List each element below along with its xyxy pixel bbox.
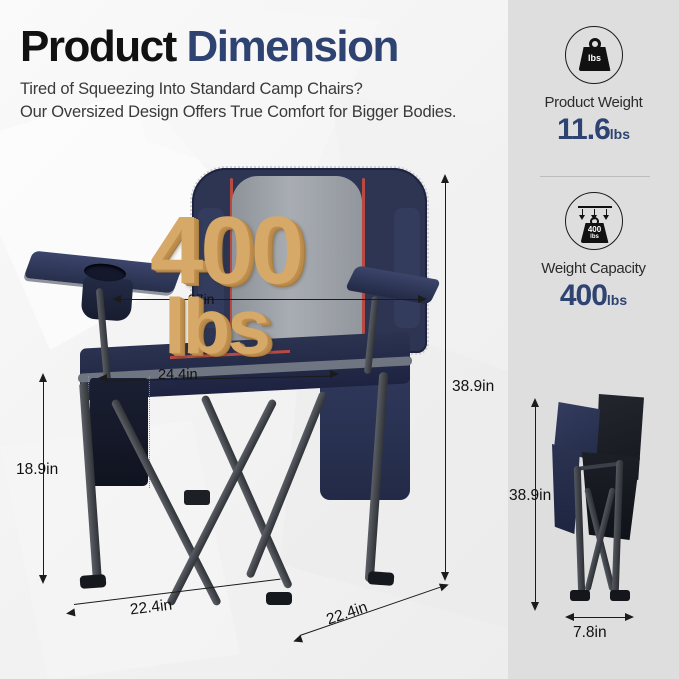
dimension-label-back-width: 37in xyxy=(188,291,214,307)
product-weight-value: 11.6 xyxy=(557,113,610,146)
weight-capacity-card: 400 lbs Weight Capacity 400lbs xyxy=(508,192,679,313)
weight-icon-label: lbs xyxy=(579,53,611,63)
title-part-one: Product xyxy=(20,22,176,71)
weight-plate-icon: lbs xyxy=(565,26,623,84)
header: Product Dimension Tired of Squeezing Int… xyxy=(20,24,500,124)
arrowhead-right xyxy=(418,295,427,303)
dimension-label-total-height: 38.9in xyxy=(452,378,494,396)
arrowhead-down xyxy=(441,572,449,581)
load-bar xyxy=(578,206,612,208)
chair-foot xyxy=(80,574,107,589)
infographic-page: Product Dimension Tired of Squeezing Int… xyxy=(0,0,679,679)
title-part-two: Dimension xyxy=(186,22,397,71)
down-arrow-icon xyxy=(582,209,584,217)
weight-capacity-value: 400 xyxy=(560,279,607,312)
subtitle-line-two: Our Oversized Design Offers True Comfort… xyxy=(20,101,500,123)
product-weight-card: lbs Product Weight 11.6lbs xyxy=(508,26,679,147)
backrest-piping xyxy=(362,178,365,350)
weight-capacity-icon: 400 lbs xyxy=(565,192,623,250)
weight-capacity-unit: lbs xyxy=(607,292,627,308)
chair-backrest xyxy=(192,168,427,353)
chair-foot xyxy=(266,592,292,605)
folded-chair-illustration xyxy=(552,392,657,607)
backrest-side-pad xyxy=(394,208,420,328)
weight-capacity-value-wrap: 400lbs xyxy=(508,279,679,313)
page-title: Product Dimension xyxy=(20,24,500,70)
dimension-label-folded-height: 38.9in xyxy=(509,487,551,505)
dimension-line xyxy=(573,617,627,618)
dimension-line xyxy=(120,299,420,300)
product-weight-unit: lbs xyxy=(610,126,630,142)
frame-brace xyxy=(245,391,327,579)
arrowhead-right xyxy=(625,613,634,621)
frame-center-hub xyxy=(184,490,210,505)
dimension-label-seat-width: 24.4in xyxy=(158,367,198,383)
backrest-side-pad xyxy=(198,208,224,328)
capacity-icon-unit: lbs xyxy=(581,234,609,240)
pocket-stitching xyxy=(88,376,150,488)
dimension-line xyxy=(445,182,446,572)
dimension-label-folded-width: 7.8in xyxy=(573,624,607,642)
folded-foot xyxy=(610,590,630,601)
arrowhead-down xyxy=(39,575,47,584)
capacity-icon-number: 400 xyxy=(581,225,609,234)
down-arrow-icon xyxy=(594,209,596,217)
weight-capacity-title: Weight Capacity xyxy=(508,260,679,277)
backrest-center-panel xyxy=(232,176,362,354)
product-weight-value-wrap: 11.6lbs xyxy=(508,113,679,147)
arrowhead-down xyxy=(531,602,539,611)
folded-foot xyxy=(570,590,590,601)
arrowhead-right xyxy=(330,370,339,378)
down-arrow-icon xyxy=(606,209,608,217)
arrowhead-left xyxy=(65,608,75,617)
dimension-label-seat-height: 18.9in xyxy=(16,461,58,479)
product-weight-title: Product Weight xyxy=(508,94,679,111)
card-divider xyxy=(540,176,650,177)
subtitle-line-one: Tired of Squeezing Into Standard Camp Ch… xyxy=(20,78,500,100)
folded-leg xyxy=(574,466,586,596)
camp-chair-illustration xyxy=(20,160,440,630)
chair-foot xyxy=(368,571,395,586)
